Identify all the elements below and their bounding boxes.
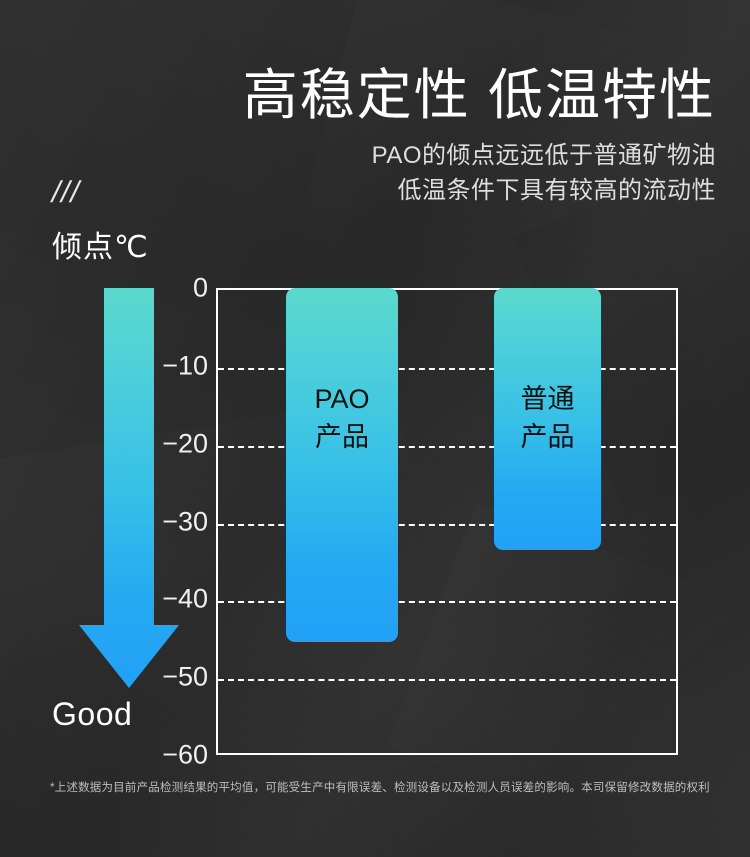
bar-ordinary-label-line2: 产品 (494, 419, 601, 455)
disclaimer-text: *上述数据为目前产品检测结果的平均值，可能受生产中有限误差、检测设备以及检测人员… (50, 780, 710, 796)
subtitle-line-2: 低温条件下具有较高的流动性 (243, 173, 716, 208)
y-tick--30: −30 (162, 508, 208, 535)
subtitle-line-1: PAO的倾点远远低于普通矿物油 (243, 138, 716, 173)
y-axis-tick-labels: 0 −10 −20 −30 −40 −50 −60 (140, 288, 208, 755)
y-tick--50: −50 (162, 664, 208, 691)
bar-pao-label-line2: 产品 (286, 419, 398, 455)
chart-plot-area: PAO 产品 普通 产品 (216, 288, 678, 755)
y-tick--10: −10 (162, 352, 208, 379)
page-subtitle: PAO的倾点远远低于普通矿物油 低温条件下具有较高的流动性 (243, 138, 716, 208)
product-spec-banner: 高稳定性 低温特性 PAO的倾点远远低于普通矿物油 低温条件下具有较高的流动性 … (0, 0, 750, 857)
slashes-decoration: /// (49, 178, 83, 208)
y-tick--20: −20 (162, 430, 208, 457)
header: 高稳定性 低温特性 PAO的倾点远远低于普通矿物油 低温条件下具有较高的流动性 (243, 62, 716, 208)
y-tick--60: −60 (162, 742, 208, 769)
bar-ordinary[interactable]: 普通 产品 (494, 288, 601, 550)
direction-label: Good (52, 695, 132, 733)
page-title: 高稳定性 低温特性 (243, 62, 716, 128)
bar-pao-label-line1: PAO (286, 381, 398, 417)
y-tick-0: 0 (193, 275, 208, 302)
bar-pao[interactable]: PAO 产品 (286, 288, 398, 642)
y-axis-title: 倾点℃ (52, 230, 149, 266)
gridline--50 (218, 679, 676, 681)
y-tick--40: −40 (162, 586, 208, 613)
bar-ordinary-label-line1: 普通 (494, 381, 601, 417)
